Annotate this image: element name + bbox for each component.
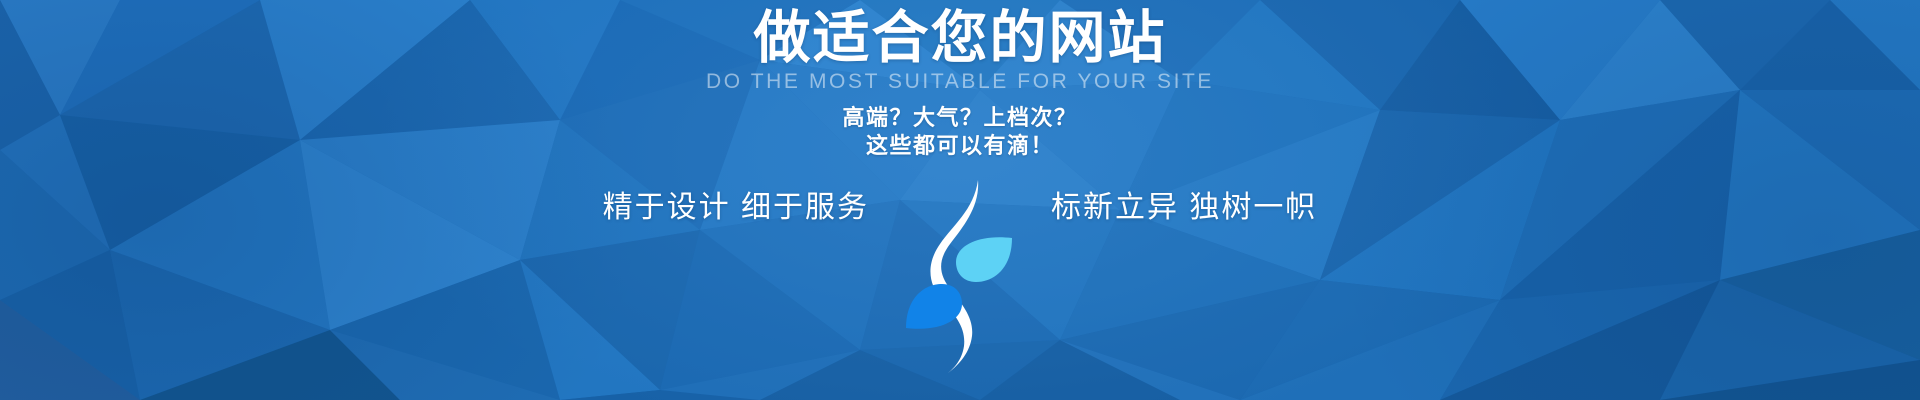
- slogan-row: 精于设计 细于服务 标新立异 独树一帜: [0, 178, 1920, 238]
- hero-banner: 做适合您的网站 DO THE MOST SUITABLE FOR YOUR SI…: [0, 0, 1920, 400]
- leaf-swirl-logo: [904, 176, 1016, 376]
- pitch-line-1: 高端？大气？上档次？: [0, 104, 1920, 132]
- page-title: 做适合您的网站: [0, 8, 1920, 70]
- slogan-right: 标新立异 独树一帜: [1015, 193, 1335, 223]
- slogan-left: 精于设计 细于服务: [585, 193, 905, 223]
- pitch-line-2: 这些都可以有滴！: [0, 132, 1920, 160]
- logo-slot: [905, 178, 1015, 238]
- page-subtitle: DO THE MOST SUITABLE FOR YOUR SITE: [0, 71, 1920, 92]
- logo-leaf-top: [956, 237, 1012, 282]
- pitch-text: 高端？大气？上档次？ 这些都可以有滴！: [0, 104, 1920, 160]
- logo-leaf-bottom: [906, 284, 962, 329]
